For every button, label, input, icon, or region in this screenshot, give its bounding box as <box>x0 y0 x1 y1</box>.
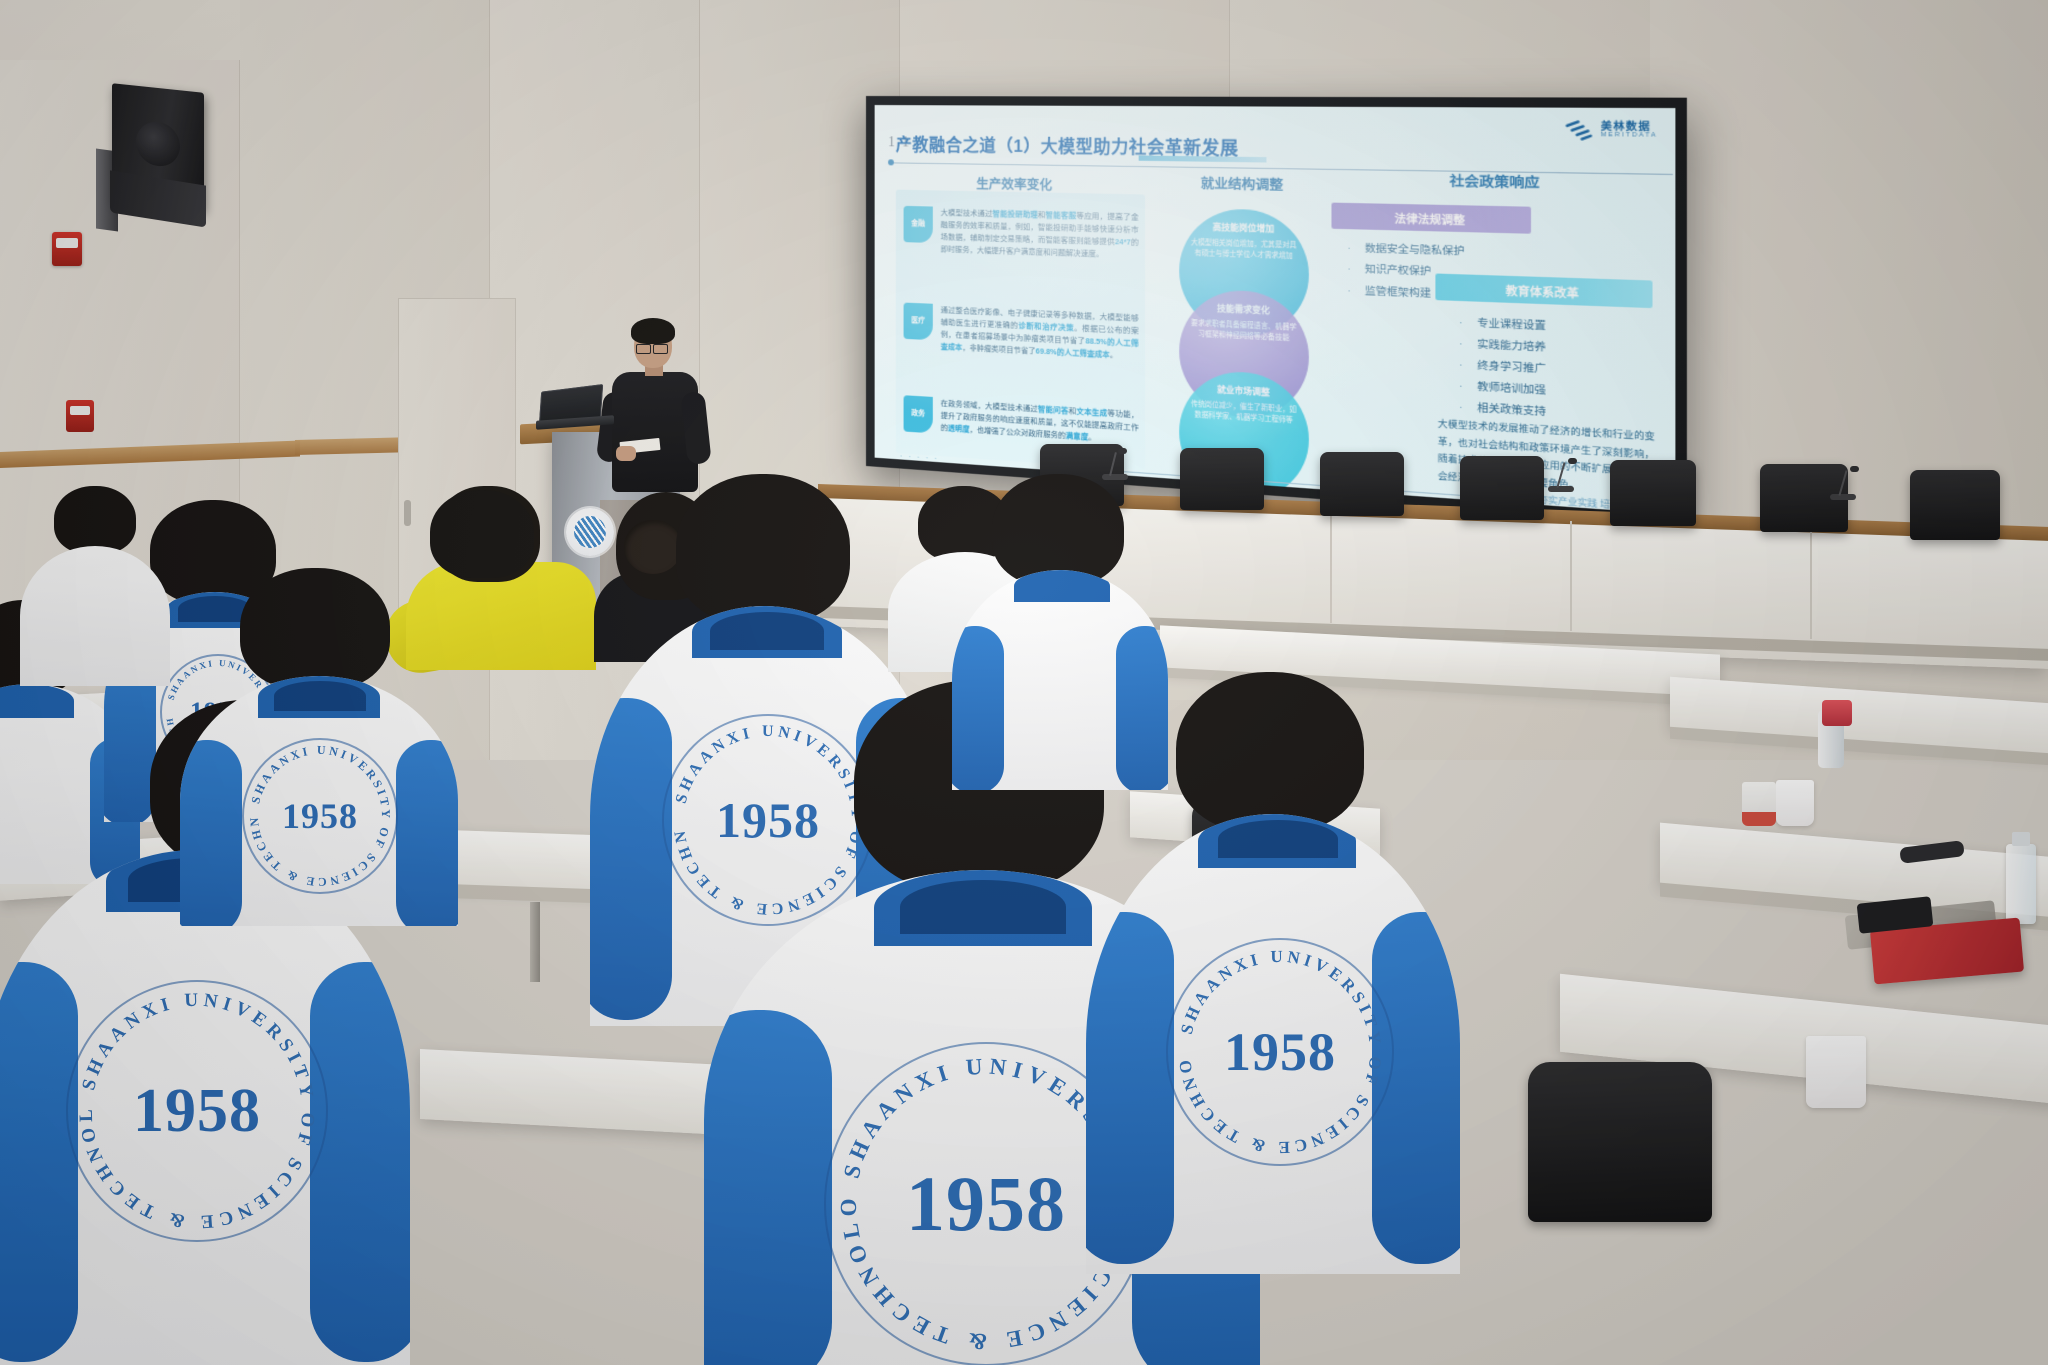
footer-dots-icon: · · · · · <box>900 451 939 463</box>
column-heading-employment: 就业结构调整 <box>1201 172 1283 194</box>
meritdata-logo-icon <box>1562 119 1594 142</box>
jacket-sleeve <box>1116 626 1168 790</box>
desk-seam <box>1570 521 1572 631</box>
fire-alarm-light <box>56 238 78 248</box>
lecture-hall-photo: 1.1 产教融合之道（1）大模型助力社会革新发展 美林数据 MERITDA <box>0 0 2048 1365</box>
jacket-sleeve <box>396 740 458 926</box>
brand-logo: 美林数据 MERITDATA <box>1562 119 1657 143</box>
venn-body: 大模型相关岗位增加，尤其是对具有硕士与博士学位人才需求增加 <box>1189 238 1298 262</box>
badge-ring-text: SHAANXI UNIVERSITY OF SCIENCE & TECHNOLO… <box>68 982 326 1240</box>
jacket-sleeve <box>952 626 1004 790</box>
venn-title: 高技能岗位增加 <box>1213 221 1275 234</box>
badge-ring-text: SHAANXI UNIVERSITY OF SCIENCE & TECHNOLO… <box>1168 940 1392 1164</box>
stage-chair[interactable] <box>1460 456 1544 520</box>
tumbler-lid[interactable] <box>1822 700 1852 726</box>
door-handle[interactable] <box>404 500 411 526</box>
paper-cup[interactable] <box>1806 1036 1866 1108</box>
svg-text:SHAANXI UNIVERSITY OF SCIENCE: SHAANXI UNIVERSITY OF SCIENCE & TECHNOLO… <box>664 716 865 917</box>
card-text: 通过整合医疗影像、电子健康记录等多种数据，大模型能够辅助医生进行更准确的诊断和治… <box>941 304 1139 363</box>
jacket-collar <box>0 684 74 718</box>
microphone-base <box>1548 486 1574 492</box>
divider-dot-icon <box>888 159 894 165</box>
edu-panel-heading: 教育体系改革 <box>1435 273 1652 308</box>
jacket-sleeve <box>180 740 242 926</box>
glasses-icon <box>653 344 668 354</box>
student-hair <box>1176 672 1364 832</box>
jacket-sleeve <box>590 698 672 1020</box>
paper-cup[interactable] <box>1776 780 1814 826</box>
stage-chair[interactable] <box>1610 460 1696 526</box>
badge-ring-label: SHAANXI UNIVERSITY OF SCIENCE & TECHNOLO… <box>664 716 865 917</box>
logo-text-en: MERITDATA <box>1601 133 1658 140</box>
jacket-sleeve <box>704 1010 832 1365</box>
card-text: 大模型技术通过智能投研助理和智能客服等应用，提高了金融服务的效率和质量，例如，智… <box>941 207 1139 262</box>
desk-seam <box>1330 513 1332 623</box>
jacket-collar <box>1014 570 1110 602</box>
svg-text:SHAANXI UNIVERSITY OF SCIENCE: SHAANXI UNIVERSITY OF SCIENCE & TECHNOLO… <box>1168 940 1385 1157</box>
fire-alarm <box>66 400 94 432</box>
university-emblem-inner <box>574 516 606 548</box>
jacket-collar-inner <box>710 612 824 650</box>
student-hair <box>240 568 390 690</box>
student-hair <box>430 490 534 578</box>
glasses-icon <box>636 344 651 354</box>
edu-panel-list: 专业课程设置实践能力培养终身学习推广教师培训加强相关政策支持 <box>1459 312 1546 423</box>
stage-chair[interactable] <box>1180 448 1264 510</box>
card-finance: 金融 大模型技术通过智能投研助理和智能客服等应用，提高了金融服务的效率和质量，例… <box>904 206 1139 262</box>
badge-ring-text: SHAANXI UNIVERSITY OF SCIENCE & TECHNOLO… <box>664 716 872 924</box>
card-tag: 金融 <box>904 206 933 243</box>
venn-title: 技能需求变化 <box>1217 303 1270 317</box>
jacket-badge: SHAANXI UNIVERSITY OF SCIENCE & TECHNOLO… <box>66 980 328 1242</box>
microphone-base <box>1102 474 1128 480</box>
jacket-badge: SHAANXI UNIVERSITY OF SCIENCE & TECHNOLO… <box>662 714 874 926</box>
badge-ring-label: SHAANXI UNIVERSITY OF SCIENCE & TECHNOLO… <box>68 982 318 1232</box>
presenter-hair <box>631 318 675 344</box>
student-jacket: SHAANXI UNIVERSITY OF SCIENCE & TECHNOLO… <box>0 850 410 1365</box>
card-tag: 政务 <box>904 395 933 433</box>
venn-body: 要求求职者具备编程语言、机器学习框架和神经网络等必备技能 <box>1189 319 1298 344</box>
audience-chair[interactable] <box>1528 1062 1712 1222</box>
card-tag: 医疗 <box>904 303 933 341</box>
badge-ring-label: SHAANXI UNIVERSITY OF SCIENCE & TECHNOLO… <box>244 740 393 889</box>
fire-alarm-light <box>70 406 90 415</box>
law-panel-heading: 法律法规调整 <box>1331 203 1531 234</box>
presenter-hand <box>616 446 636 461</box>
presentation-slide: 1.1 产教融合之道（1）大模型助力社会革新发展 美林数据 MERITDA <box>875 105 1676 514</box>
column-heading-policy: 社会政策响应 <box>1450 169 1540 192</box>
seated-woman-bun <box>624 520 682 574</box>
jacket-sleeve <box>0 962 78 1362</box>
jacket-collar-inner <box>900 880 1066 934</box>
title-underline <box>1139 155 1267 162</box>
jacket-collar-inner <box>274 681 366 711</box>
badge-ring-label: SHAANXI UNIVERSITY OF SCIENCE & TECHNOLO… <box>1168 940 1385 1157</box>
student-hair <box>676 474 850 624</box>
desk-leg <box>530 902 540 982</box>
jacket-badge: SHAANXI UNIVERSITY OF SCIENCE & TECHNOLO… <box>242 738 398 894</box>
student-shirt <box>20 546 170 686</box>
student-jacket <box>952 570 1168 790</box>
student-jacket: SHAANXI UNIVERSITY OF SCIENCE & TECHNOLO… <box>180 676 458 926</box>
stage-chair[interactable] <box>1320 452 1404 516</box>
jacket-collar-inner <box>1218 820 1338 858</box>
microphone-head-icon <box>1118 448 1127 454</box>
student-hair <box>54 486 136 554</box>
mug-base[interactable] <box>1742 812 1776 826</box>
student-jacket: SHAANXI UNIVERSITY OF SCIENCE & TECHNOLO… <box>1086 814 1460 1274</box>
microphone-base <box>1830 494 1856 500</box>
svg-text:SHAANXI UNIVERSITY OF SCIENCE: SHAANXI UNIVERSITY OF SCIENCE & TECHNOLO… <box>244 740 393 889</box>
badge-ring-text: SHAANXI UNIVERSITY OF SCIENCE & TECHNOLO… <box>244 740 396 892</box>
jacket-sleeve <box>1086 912 1174 1264</box>
microphone-head-icon <box>1568 458 1577 464</box>
water-bottle[interactable] <box>2006 844 2036 924</box>
logo-text-cn: 美林数据 <box>1601 122 1658 133</box>
venn-title: 就业市场调整 <box>1217 384 1270 399</box>
stage-chair[interactable] <box>1910 470 2000 540</box>
venn-body: 传统岗位减少，催生了新职业，如数据科学家、机器学习工程师等 <box>1189 399 1298 426</box>
microphone-head-icon <box>1850 466 1859 472</box>
svg-text:SHAANXI UNIVERSITY OF SCIENCE: SHAANXI UNIVERSITY OF SCIENCE & TECHNOLO… <box>68 982 318 1232</box>
jacket-badge: SHAANXI UNIVERSITY OF SCIENCE & TECHNOLO… <box>1166 938 1394 1166</box>
bottle-cap[interactable] <box>2012 832 2030 846</box>
desk-seam <box>1810 529 1812 639</box>
